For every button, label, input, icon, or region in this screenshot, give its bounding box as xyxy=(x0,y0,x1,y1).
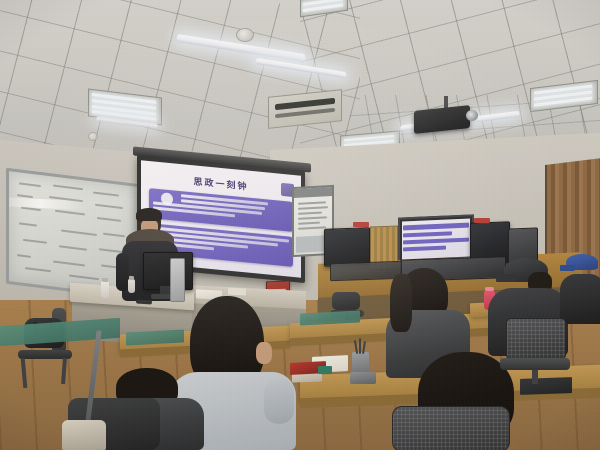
student-front-arm xyxy=(264,378,294,424)
classroom-photo: 思政一刻钟 xyxy=(0,0,600,450)
wall-mounted-display xyxy=(398,214,474,263)
student-right-hair-strand xyxy=(390,274,412,332)
desktop-monitor xyxy=(143,252,193,290)
projector-lens-icon xyxy=(466,110,478,121)
sprinkler-head-icon xyxy=(88,132,98,141)
smoke-detector-icon xyxy=(236,28,254,42)
foreground-chair[interactable] xyxy=(392,406,512,450)
mesh-office-chair[interactable] xyxy=(500,318,570,384)
podium-paper-2 xyxy=(228,288,246,296)
back-monitor-1 xyxy=(324,227,370,267)
bag-on-floor xyxy=(62,420,106,450)
student-front-face xyxy=(256,342,272,364)
student-far-right-blue-cap xyxy=(560,254,600,324)
green-phone-case xyxy=(318,366,332,374)
equipment-label-red-1 xyxy=(353,222,369,227)
water-bottle-2 xyxy=(128,279,135,293)
equipment-label-red-2 xyxy=(474,218,490,223)
desk-lamp-base xyxy=(350,372,376,384)
pen-and-brush-holder xyxy=(352,352,369,374)
water-bottle-1 xyxy=(101,281,109,299)
